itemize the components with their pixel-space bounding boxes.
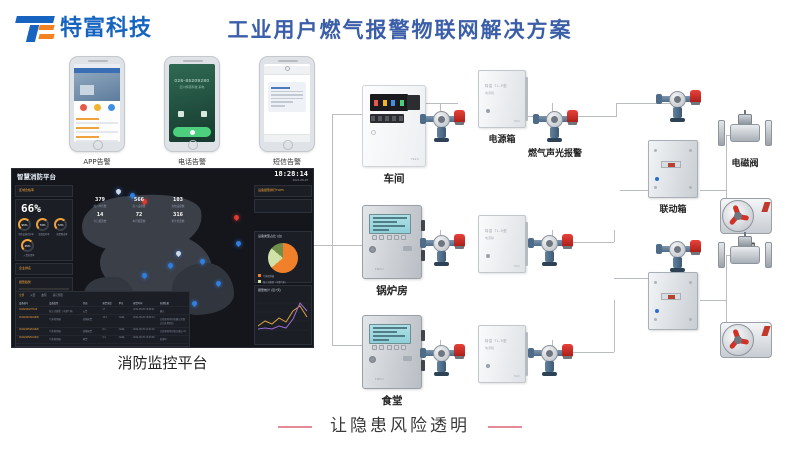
power-box-label-1: 特富 TL-9型 <box>485 83 507 88</box>
device-linkage-box[interactable]: 联动箱 <box>648 140 698 215</box>
linkage-box-icon[interactable] <box>648 140 698 198</box>
map-marker[interactable] <box>115 188 122 195</box>
site-canteen[interactable]: TEFU 食堂 <box>362 315 422 408</box>
page-title: 工业用户燃气报警物联网解决方案 <box>0 14 800 44</box>
solenoid-valve-icon[interactable] <box>718 112 772 152</box>
gas-detector-icon[interactable] <box>420 108 464 142</box>
alarm-controller-gray[interactable]: TEFU <box>362 205 422 279</box>
alert-channel-sms: 短信告警 <box>252 56 322 171</box>
dashboard-stats: 379接入单位数 566接入设备数 103在线设备数 14今日报警数 72本月报… <box>84 197 194 227</box>
controller-knob[interactable] <box>369 246 376 253</box>
panel-alarm-statistics: 报警统计 (近7天) <box>254 285 312 345</box>
power-box-icon[interactable]: 特富 TL-9型 电源箱 TEFU <box>478 70 526 128</box>
tab-fire[interactable]: 火警 <box>30 293 35 297</box>
power-box-icon[interactable]: 特富 TL-9型 电源箱 TEFU <box>478 215 526 273</box>
app-alarm-screen <box>74 64 120 142</box>
site-caption: 锅炉房 <box>376 283 408 298</box>
controller-side-panel <box>407 95 420 110</box>
connector-line <box>620 190 648 191</box>
kpi-gauge: 72% 隐患整改率 <box>54 218 70 236</box>
stat-card: 103在线设备数 <box>162 197 194 208</box>
alert-channel-call: 028-85209280 四川特富科技 来电 电话告警 <box>157 56 227 171</box>
fan-icon[interactable] <box>720 196 774 236</box>
site-boiler[interactable]: TEFU 锅炉房 <box>362 205 422 298</box>
site-caption: 车间 <box>384 171 405 186</box>
table-row[interactable]: JK20210427T100 独立式烟雾（可燃气体） 火警 17 2021-08… <box>16 307 189 315</box>
alarm-records-table: 全部 火警 故障 其它预警 设备编号 设备类型 状态 报警浓度 单位 报警时间 … <box>15 291 190 347</box>
slogan-rule-right <box>488 426 522 428</box>
connector-line <box>314 245 332 246</box>
gas-alarm-icon[interactable] <box>528 232 572 266</box>
alarm-controller-gray[interactable]: TEFU <box>362 315 422 389</box>
panel-company-rank: 企业排名 <box>15 263 73 275</box>
fan-icon[interactable] <box>720 320 774 360</box>
controller-indicator <box>371 130 376 135</box>
dashboard-date: 2021-08-25 <box>293 178 308 182</box>
alarm-line-chart <box>255 297 311 333</box>
kpi-gauge: 45% 火警处置率 <box>21 239 37 257</box>
stat-card: 14今日报警数 <box>84 212 116 223</box>
device-solenoid-valve[interactable]: 电磁阀 <box>718 112 772 169</box>
controller-display <box>369 324 411 344</box>
power-box-caption: 电源箱 <box>488 132 515 145</box>
connector-line <box>614 230 615 242</box>
answer-call-button[interactable] <box>173 127 211 137</box>
panel-kpi-gauges: 66% 96% 消防设施完好率 73% 维保及时率 72% 隐患整改率 45% <box>15 199 73 261</box>
gas-alarm-caption: 燃气声光报警 <box>528 146 582 159</box>
caller-subtitle: 四川特富科技 来电 <box>169 85 215 89</box>
stat-card: 316累计处置数 <box>162 212 194 223</box>
alarm-controller-white[interactable]: TEFU <box>362 85 426 167</box>
site-workshop[interactable]: TEFU 车间 <box>362 85 426 186</box>
kpi-gauge: 73% 维保及时率 <box>36 218 52 236</box>
dashboard-caption: 消防监控平台 <box>11 352 314 373</box>
power-box-label-2: 电源箱 <box>485 91 494 95</box>
table-row[interactable]: JK20210419U1005 气体探测器 故障报警 13.2 %LEL 202… <box>16 315 189 327</box>
poster-canvas: 特富科技 工业用户燃气报警物联网解决方案 <box>0 0 800 450</box>
table-tabs[interactable]: 全部 火警 故障 其它预警 <box>16 292 189 299</box>
connector-line <box>616 103 617 117</box>
slogan-rule-left <box>278 426 312 428</box>
dashboard-header: 智慧消防平台 18:28:14 2021-08-25 <box>12 169 313 183</box>
gas-detector-icon[interactable] <box>420 342 464 376</box>
panel-region-rate: 区域合格率 <box>15 185 73 197</box>
controller-knob[interactable] <box>369 356 376 363</box>
sms-alarm-screen <box>264 64 310 142</box>
controller-keypad[interactable] <box>370 114 404 123</box>
gas-detector-icon[interactable] <box>420 232 464 266</box>
dashboard-title: 智慧消防平台 <box>17 171 56 181</box>
alert-channel-caption: APP告警 <box>83 157 110 167</box>
table-row[interactable]: JK20210520U1031 气体探测器 预警 5.4 %LEL 2021-0… <box>16 336 189 344</box>
sms-bubble <box>268 82 306 112</box>
linkage-box-caption: 联动箱 <box>659 202 686 215</box>
map-marker[interactable] <box>235 240 242 247</box>
call-alarm-screen: 028-85209280 四川特富科技 来电 <box>169 64 215 142</box>
stat-card: 379接入单位数 <box>84 197 116 208</box>
gas-alarm-icon[interactable] <box>533 108 577 142</box>
alert-channels: APP告警 028-85209280 四川特富科技 来电 电话告警 <box>62 56 322 171</box>
tab-all[interactable]: 全部 <box>19 293 24 297</box>
connector-line <box>332 345 362 346</box>
phone-frame <box>69 56 125 152</box>
panel-top5-body <box>254 199 312 213</box>
controller-keypad[interactable] <box>372 235 406 240</box>
alert-channel-caption: 短信告警 <box>273 157 301 167</box>
kpi-overall-value: 66% <box>16 200 72 215</box>
connector-line <box>332 114 362 115</box>
solenoid-valve-icon[interactable] <box>718 234 772 274</box>
connector-line <box>614 278 648 279</box>
phone-frame: 028-85209280 四川特富科技 来电 <box>164 56 220 152</box>
map-marker[interactable] <box>233 214 240 221</box>
connector-line <box>332 245 362 246</box>
caller-number: 028-85209280 <box>169 78 215 83</box>
gas-alarm-icon[interactable] <box>528 342 572 376</box>
table-header-row: 设备编号 设备类型 状态 报警浓度 单位 报警时间 处理结果 <box>16 299 189 307</box>
stat-card: 566接入设备数 <box>123 197 155 208</box>
panel-device-type-pie: 设备类型占比 (台) 气体探测器 独立式烟感（可燃气体） 其它（手报/声光） <box>254 231 312 283</box>
gas-detector-icon[interactable] <box>656 88 700 122</box>
solenoid-valve-caption: 电磁阀 <box>731 156 758 169</box>
tab-fault[interactable]: 故障 <box>41 293 46 297</box>
device-power-box[interactable]: 特富 TL-9型 电源箱 TEFU 电源箱 <box>478 70 526 145</box>
gas-detector-icon[interactable] <box>656 238 700 272</box>
table-row[interactable]: JK20210518U1020 气体探测器 故障报警 8.1 %LEL 2021… <box>16 328 189 336</box>
footer-slogan: 让隐患风险透明 <box>0 411 800 436</box>
site-caption: 食堂 <box>382 393 403 408</box>
linkage-box-icon[interactable] <box>648 272 698 330</box>
kpi-gauge: 96% 消防设施完好率 <box>18 218 34 236</box>
dashboard-clock: 18:28:14 <box>274 170 308 178</box>
controller-display <box>370 94 408 111</box>
connector-line <box>700 300 726 301</box>
device-type-pie-chart <box>268 243 298 273</box>
controller-keypad[interactable] <box>372 345 406 350</box>
monitoring-dashboard: 智慧消防平台 18:28:14 2021-08-25 379接入单位数 566接… <box>11 168 314 348</box>
panel-alarm-top5: 设备报警排行TOP5 <box>254 185 312 197</box>
power-box-icon[interactable]: 特富 TL-9型 电源箱 TEFU <box>478 325 526 383</box>
stat-card: 72本月报警数 <box>123 212 155 223</box>
device-gas-sound-light-alarm[interactable]: 燃气声光报警 <box>528 108 582 159</box>
alert-channel-app: APP告警 <box>62 56 132 171</box>
phone-frame <box>259 56 315 152</box>
device-icon <box>108 104 115 111</box>
connector-line <box>614 300 615 352</box>
warning-icon <box>94 104 101 111</box>
controller-brand: TEFU <box>411 158 419 161</box>
alarm-icon <box>80 104 87 111</box>
controller-display <box>369 214 411 234</box>
connector-line <box>332 114 333 345</box>
tab-other[interactable]: 其它预警 <box>53 293 63 297</box>
slogan-text: 让隐患风险透明 <box>330 416 470 436</box>
alert-channel-caption: 电话告警 <box>178 157 206 167</box>
connector-line <box>700 190 726 191</box>
